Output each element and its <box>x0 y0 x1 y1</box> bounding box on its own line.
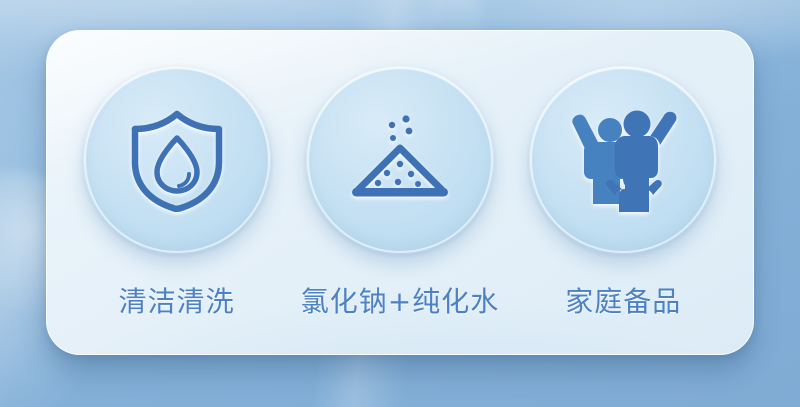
icon-badge <box>83 66 271 254</box>
feature-label: 清洁清洗 <box>119 280 235 320</box>
feature-item-ingredients[interactable]: 氯化钠+纯化水 <box>295 66 505 320</box>
feature-card: 清洁清洗 <box>46 30 754 355</box>
feature-item-cleaning[interactable]: 清洁清洗 <box>72 66 282 320</box>
icon-badge <box>529 66 717 254</box>
family-group-icon <box>563 100 683 220</box>
feature-list: 清洁清洗 <box>47 31 753 354</box>
promo-banner: 清洁清洗 <box>0 0 800 407</box>
icon-badge <box>306 66 494 254</box>
feature-item-family[interactable]: 家庭备品 <box>518 66 728 320</box>
feature-label: 家庭备品 <box>565 280 681 320</box>
shield-droplet-icon <box>117 100 237 220</box>
salt-pile-icon <box>340 100 460 220</box>
feature-label: 氯化钠+纯化水 <box>301 280 499 320</box>
